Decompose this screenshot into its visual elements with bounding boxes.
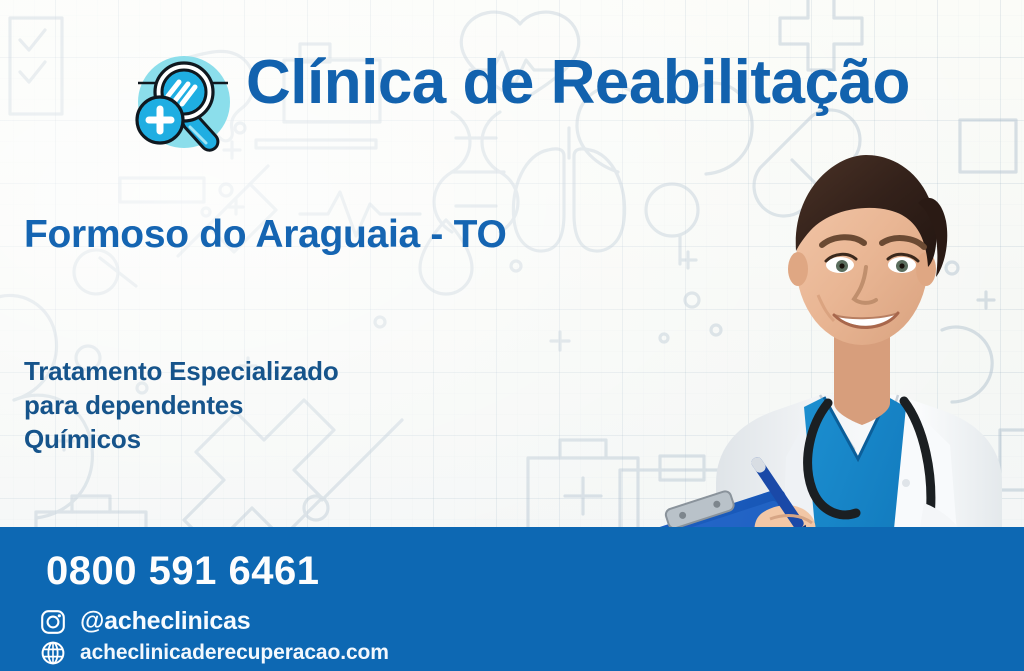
website-link[interactable]: acheclinicaderecuperacao.com [40,640,389,666]
pitch-text: Tratamento Especializado para dependente… [24,355,339,456]
instagram-icon [40,609,66,635]
instagram-handle: @acheclinicas [80,607,250,636]
instagram-link[interactable]: @acheclinicas [40,607,250,636]
globe-icon [40,640,66,666]
pitch-line-2: para dependentes [24,389,339,423]
website-url: acheclinicaderecuperacao.com [80,641,389,665]
phone-number[interactable]: 0800 591 6461 [46,549,319,594]
magnifier-plus-icon [124,48,238,162]
page-title: Clínica de Reabilitação [246,50,910,115]
contact-footer: 0800 591 6461 @acheclinicas [0,527,1024,671]
pitch-line-1: Tratamento Especializado [24,355,339,389]
clinic-banner: Clínica de Reabilitação Formoso do Aragu… [0,0,1024,671]
location-subtitle: Formoso do Araguaia - TO [24,214,507,257]
pitch-line-3: Químicos [24,423,339,457]
